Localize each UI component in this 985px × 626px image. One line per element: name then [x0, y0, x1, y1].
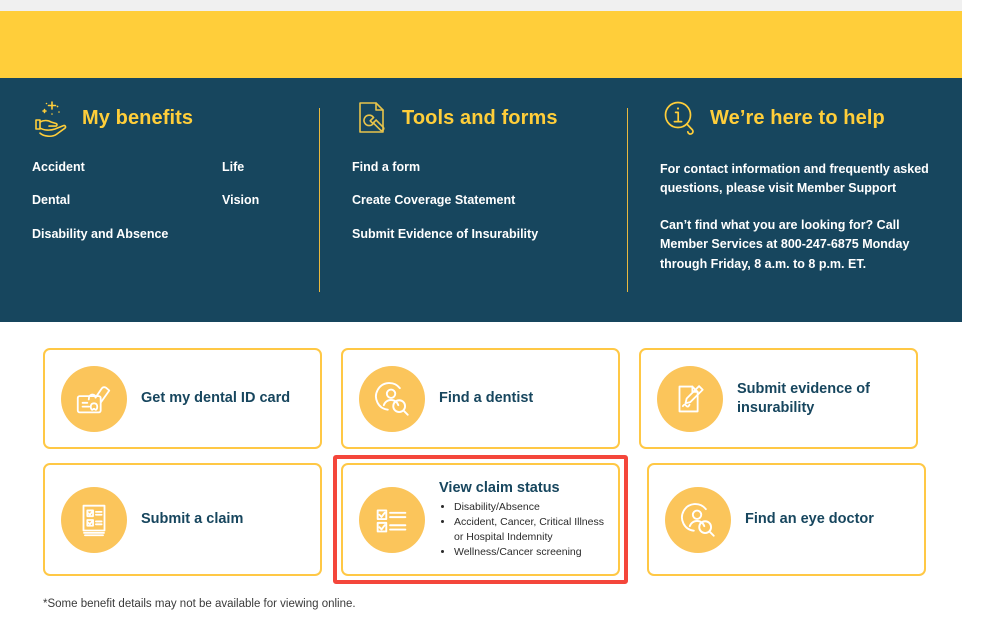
tile-submit-a-claim[interactable]: Submit a claim	[43, 463, 322, 576]
column-header-here-to-help: We’re here to help	[660, 98, 932, 138]
tile-view-claim-status[interactable]: View claim status Disability/Absence Acc…	[341, 463, 620, 576]
benefits-links-left: Accident Dental Disability and Absence	[32, 160, 222, 260]
help-paragraph-member-services: Can’t find what you are looking for? Cal…	[660, 216, 932, 274]
help-paragraph-support: For contact information and frequently a…	[660, 160, 932, 199]
tile-label: Submit evidence of insurability	[737, 380, 902, 417]
hand-id-card-icon	[61, 366, 127, 432]
link-vision[interactable]: Vision	[222, 193, 259, 207]
hero-banner	[0, 11, 962, 78]
column-title: We’re here to help	[710, 107, 885, 130]
column-header-my-benefits: My benefits	[32, 98, 298, 138]
column-my-benefits: My benefits Accident Dental Disability a…	[0, 78, 320, 322]
link-disability-and-absence[interactable]: Disability and Absence	[32, 227, 222, 241]
tile-find-an-eye-doctor[interactable]: Find an eye doctor	[647, 463, 926, 576]
benefits-links-right: Life Vision	[222, 160, 259, 260]
tile-bullet: Disability/Absence	[454, 500, 604, 515]
quick-action-tiles: Get my dental ID card Find a dentist	[43, 348, 919, 598]
page-root: My benefits Accident Dental Disability a…	[0, 0, 985, 626]
tile-wrap-view-claim-status-highlighted: View claim status Disability/Absence Acc…	[333, 455, 628, 584]
tile-bullet: Accident, Cancer, Critical Illness or Ho…	[454, 515, 604, 545]
link-submit-evidence-of-insurability[interactable]: Submit Evidence of Insurability	[352, 227, 606, 241]
column-tools-and-forms: Tools and forms Find a form Create Cover…	[320, 78, 628, 322]
tile-submit-evidence-of-insurability[interactable]: Submit evidence of insurability	[639, 348, 918, 449]
benefits-links: Accident Dental Disability and Absence L…	[32, 160, 298, 260]
checklist-icon	[359, 487, 425, 553]
tile-bullet-list: Disability/Absence Accident, Cancer, Cri…	[439, 500, 604, 560]
tile-body: View claim status Disability/Absence Acc…	[439, 479, 604, 560]
link-accident[interactable]: Accident	[32, 160, 222, 174]
tile-label: Find a dentist	[439, 389, 533, 408]
column-title: My benefits	[82, 107, 193, 130]
tools-links: Find a form Create Coverage Statement Su…	[352, 160, 606, 260]
tile-bullet: Wellness/Cancer screening	[454, 545, 604, 560]
column-title: Tools and forms	[402, 107, 558, 130]
tile-find-a-dentist[interactable]: Find a dentist	[341, 348, 620, 449]
document-wrench-icon	[352, 98, 392, 138]
tile-get-my-dental-id-card[interactable]: Get my dental ID card	[43, 348, 322, 449]
person-magnifier-icon	[665, 487, 731, 553]
info-magnifier-icon	[660, 98, 700, 138]
footnote: *Some benefit details may not be availab…	[43, 598, 356, 610]
column-here-to-help: We’re here to help For contact informati…	[628, 78, 962, 322]
link-create-coverage-statement[interactable]: Create Coverage Statement	[352, 193, 606, 207]
person-magnifier-icon	[359, 366, 425, 432]
tile-row-1: Get my dental ID card Find a dentist	[43, 348, 919, 449]
tile-label: Submit a claim	[141, 510, 243, 529]
quick-links-panel: My benefits Accident Dental Disability a…	[0, 78, 962, 322]
tile-row-2: Submit a claim	[43, 463, 919, 584]
clipboard-checklist-icon	[61, 487, 127, 553]
link-find-a-form[interactable]: Find a form	[352, 160, 606, 174]
tile-label: Find an eye doctor	[745, 510, 874, 529]
top-gray-strip	[0, 0, 962, 11]
tile-wrap-find-an-eye-doctor: Find an eye doctor	[647, 463, 926, 584]
column-header-tools-and-forms: Tools and forms	[352, 98, 606, 138]
tile-label: View claim status	[439, 479, 604, 498]
hand-sparkle-icon	[32, 98, 72, 138]
link-dental[interactable]: Dental	[32, 193, 222, 207]
tile-label: Get my dental ID card	[141, 389, 290, 408]
link-life[interactable]: Life	[222, 160, 259, 174]
tile-wrap-submit-a-claim: Submit a claim	[43, 463, 322, 584]
document-pen-icon	[657, 366, 723, 432]
